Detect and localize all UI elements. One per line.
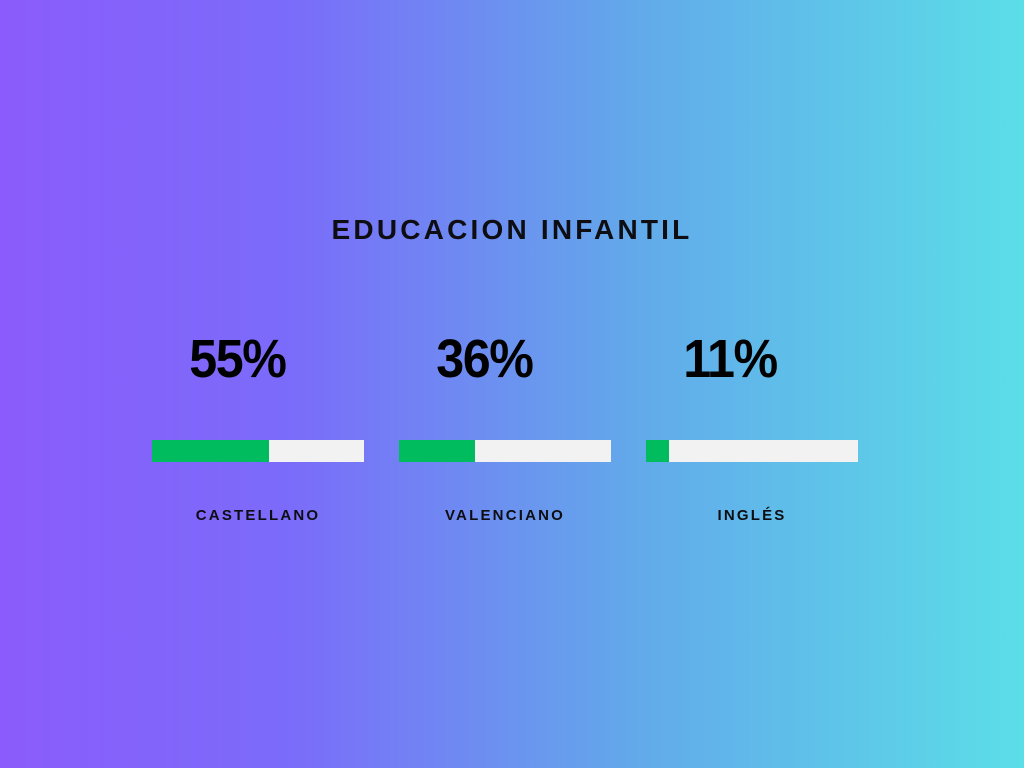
progress-bar-fill (646, 440, 669, 462)
category-label: INGLÉS (646, 507, 858, 524)
stats-row: 55% CASTELLANO 36% VALENCIANO 11% INGLÉS (152, 330, 888, 524)
percentage-value: 55% (152, 330, 349, 400)
stat-column-castellano: 55% CASTELLANO (152, 330, 364, 524)
category-label: CASTELLANO (152, 507, 364, 524)
percentage-value: 36% (399, 330, 596, 400)
progress-bar-track (646, 440, 858, 462)
progress-bar-fill (399, 440, 475, 462)
stat-column-valenciano: 36% VALENCIANO (399, 330, 611, 524)
stat-column-ingles: 11% INGLÉS (646, 330, 858, 524)
percentage-value: 11% (646, 330, 843, 400)
progress-bar-fill (152, 440, 269, 462)
page-title: EDUCACION INFANTIL (0, 213, 1024, 247)
progress-bar-track (399, 440, 611, 462)
category-label: VALENCIANO (399, 507, 611, 524)
infographic-slide: EDUCACION INFANTIL 55% CASTELLANO 36% VA… (0, 0, 1024, 768)
progress-bar-track (152, 440, 364, 462)
